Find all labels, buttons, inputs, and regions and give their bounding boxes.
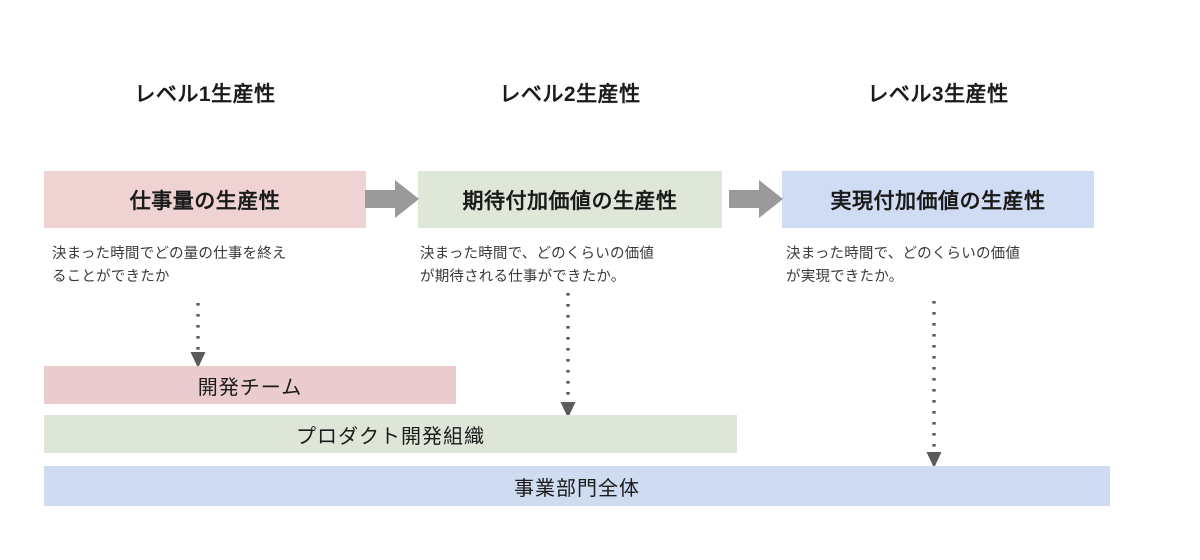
level-box-2[interactable]: 期待付加価値の生産性 — [418, 171, 722, 228]
column-header-level2: レベル2生産性 — [418, 84, 722, 105]
level-box-2-label: 期待付加価値の生産性 — [463, 185, 678, 215]
scope-bar-dev-team[interactable]: 開発チーム — [44, 366, 456, 404]
column-header-level3: レベル3生産性 — [782, 84, 1094, 105]
flow-arrow-level1-to-level2 — [365, 180, 419, 218]
description-level1: 決まった時間でどの量の仕事を終え ることができたか — [52, 243, 382, 289]
scope-bar-product-org[interactable]: プロダクト開発組織 — [44, 415, 737, 453]
diagram-canvas: レベル1生産性 レベル2生産性 レベル3生産性 仕事量の生産性 期待付加価値の生… — [0, 0, 1200, 560]
level-box-3-label: 実現付加価値の生産性 — [831, 185, 1046, 215]
dotted-arrow-level2-to-product-org — [556, 290, 580, 420]
flow-arrow-level2-to-level3 — [729, 180, 783, 218]
dotted-arrow-level3-to-business-unit — [922, 298, 946, 470]
column-header-level1: レベル1生産性 — [44, 84, 366, 105]
dotted-arrow-level1-to-dev-team — [186, 300, 210, 370]
level-box-1-label: 仕事量の生産性 — [130, 185, 281, 215]
scope-bar-product-org-label: プロダクト開発組織 — [296, 420, 485, 449]
level-box-3[interactable]: 実現付加価値の生産性 — [782, 171, 1094, 228]
level-box-1[interactable]: 仕事量の生産性 — [44, 171, 366, 228]
description-level3: 決まった時間で、どのくらいの価値 が実現できたか。 — [786, 243, 1086, 289]
scope-bar-business-unit[interactable]: 事業部門全体 — [44, 466, 1110, 506]
description-level2: 決まった時間で、どのくらいの価値 が期待される仕事ができたか。 — [420, 243, 720, 289]
scope-bar-business-unit-label: 事業部門全体 — [514, 472, 640, 501]
scope-bar-dev-team-label: 開発チーム — [198, 371, 302, 400]
